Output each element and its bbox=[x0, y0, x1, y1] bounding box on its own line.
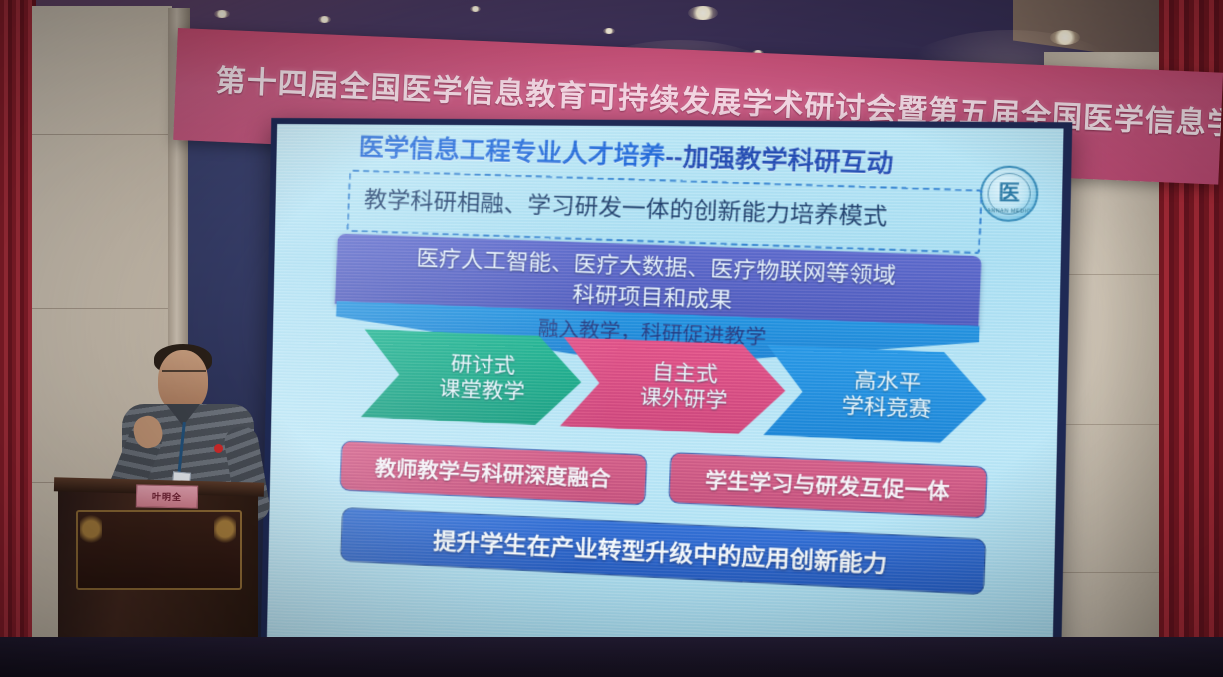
process-arrow-3-line1: 高水平 bbox=[830, 367, 922, 396]
presentation-slide: 医学信息工程专业人才培养--加强教学科研互动 医 WANNAN MEDICAL … bbox=[267, 124, 1064, 670]
ceiling-downlight bbox=[318, 16, 331, 23]
logo-arc-text: WANNAN MEDICAL COLLEGE bbox=[982, 208, 1036, 215]
logo-glyph: 医 bbox=[998, 183, 1020, 204]
goal-box: 提升学生在产业转型升级中的应用创新能力 bbox=[340, 507, 986, 595]
dashed-callout-text: 教学科研相融、学习研发一体的创新能力培养模式 bbox=[363, 180, 973, 235]
university-logo-icon: 医 WANNAN MEDICAL COLLEGE bbox=[979, 165, 1038, 222]
process-arrow-2-line2: 课外研学 bbox=[617, 384, 728, 414]
projection-screen: 医学信息工程专业人才培养--加强教学科研互动 医 WANNAN MEDICAL … bbox=[267, 124, 1064, 670]
speaker-head bbox=[158, 350, 208, 412]
speaker-lapel-pin bbox=[214, 444, 223, 453]
floor bbox=[0, 637, 1223, 677]
projection-screen-frame: 医学信息工程专业人才培养--加强教学科研互动 医 WANNAN MEDICAL … bbox=[261, 118, 1073, 677]
ceiling-downlight bbox=[603, 28, 615, 34]
speaker-glasses bbox=[162, 370, 206, 381]
slide-title-sub: --加强教学科研互动 bbox=[665, 143, 894, 179]
process-arrow-2: 自主式 课外研学 bbox=[560, 337, 788, 436]
ceiling-downlight bbox=[688, 6, 718, 20]
process-arrow-3: 高水平 学科竞赛 bbox=[763, 345, 988, 445]
podium-ornament bbox=[214, 512, 236, 546]
outcome-box-teachers: 教师教学与科研深度融合 bbox=[339, 440, 647, 505]
slide-title-main: 医学信息工程专业人才培养 bbox=[358, 133, 666, 171]
ceiling-downlight bbox=[470, 6, 481, 12]
stage-curtain-left bbox=[0, 0, 36, 677]
podium-ornament bbox=[80, 512, 102, 546]
ceiling-downlight bbox=[214, 10, 230, 18]
process-arrow-1-line2: 课堂教学 bbox=[416, 375, 525, 405]
process-arrow-1: 研讨式 课堂教学 bbox=[361, 329, 584, 427]
speaker-nameplate: 叶明全 bbox=[136, 484, 198, 508]
ceiling-downlight bbox=[1050, 30, 1080, 45]
outcome-box-students: 学生学习与研发互促一体 bbox=[668, 452, 988, 518]
process-arrow-1-line1: 研讨式 bbox=[428, 351, 516, 380]
process-arrow-2-line1: 自主式 bbox=[629, 359, 719, 388]
process-arrow-3-line2: 学科竞赛 bbox=[818, 392, 932, 422]
conference-room-photo: 第十四届全国医学信息教育可持续发展学术研讨会暨第五届全国医学信息学研究生论坛 医… bbox=[0, 0, 1223, 677]
